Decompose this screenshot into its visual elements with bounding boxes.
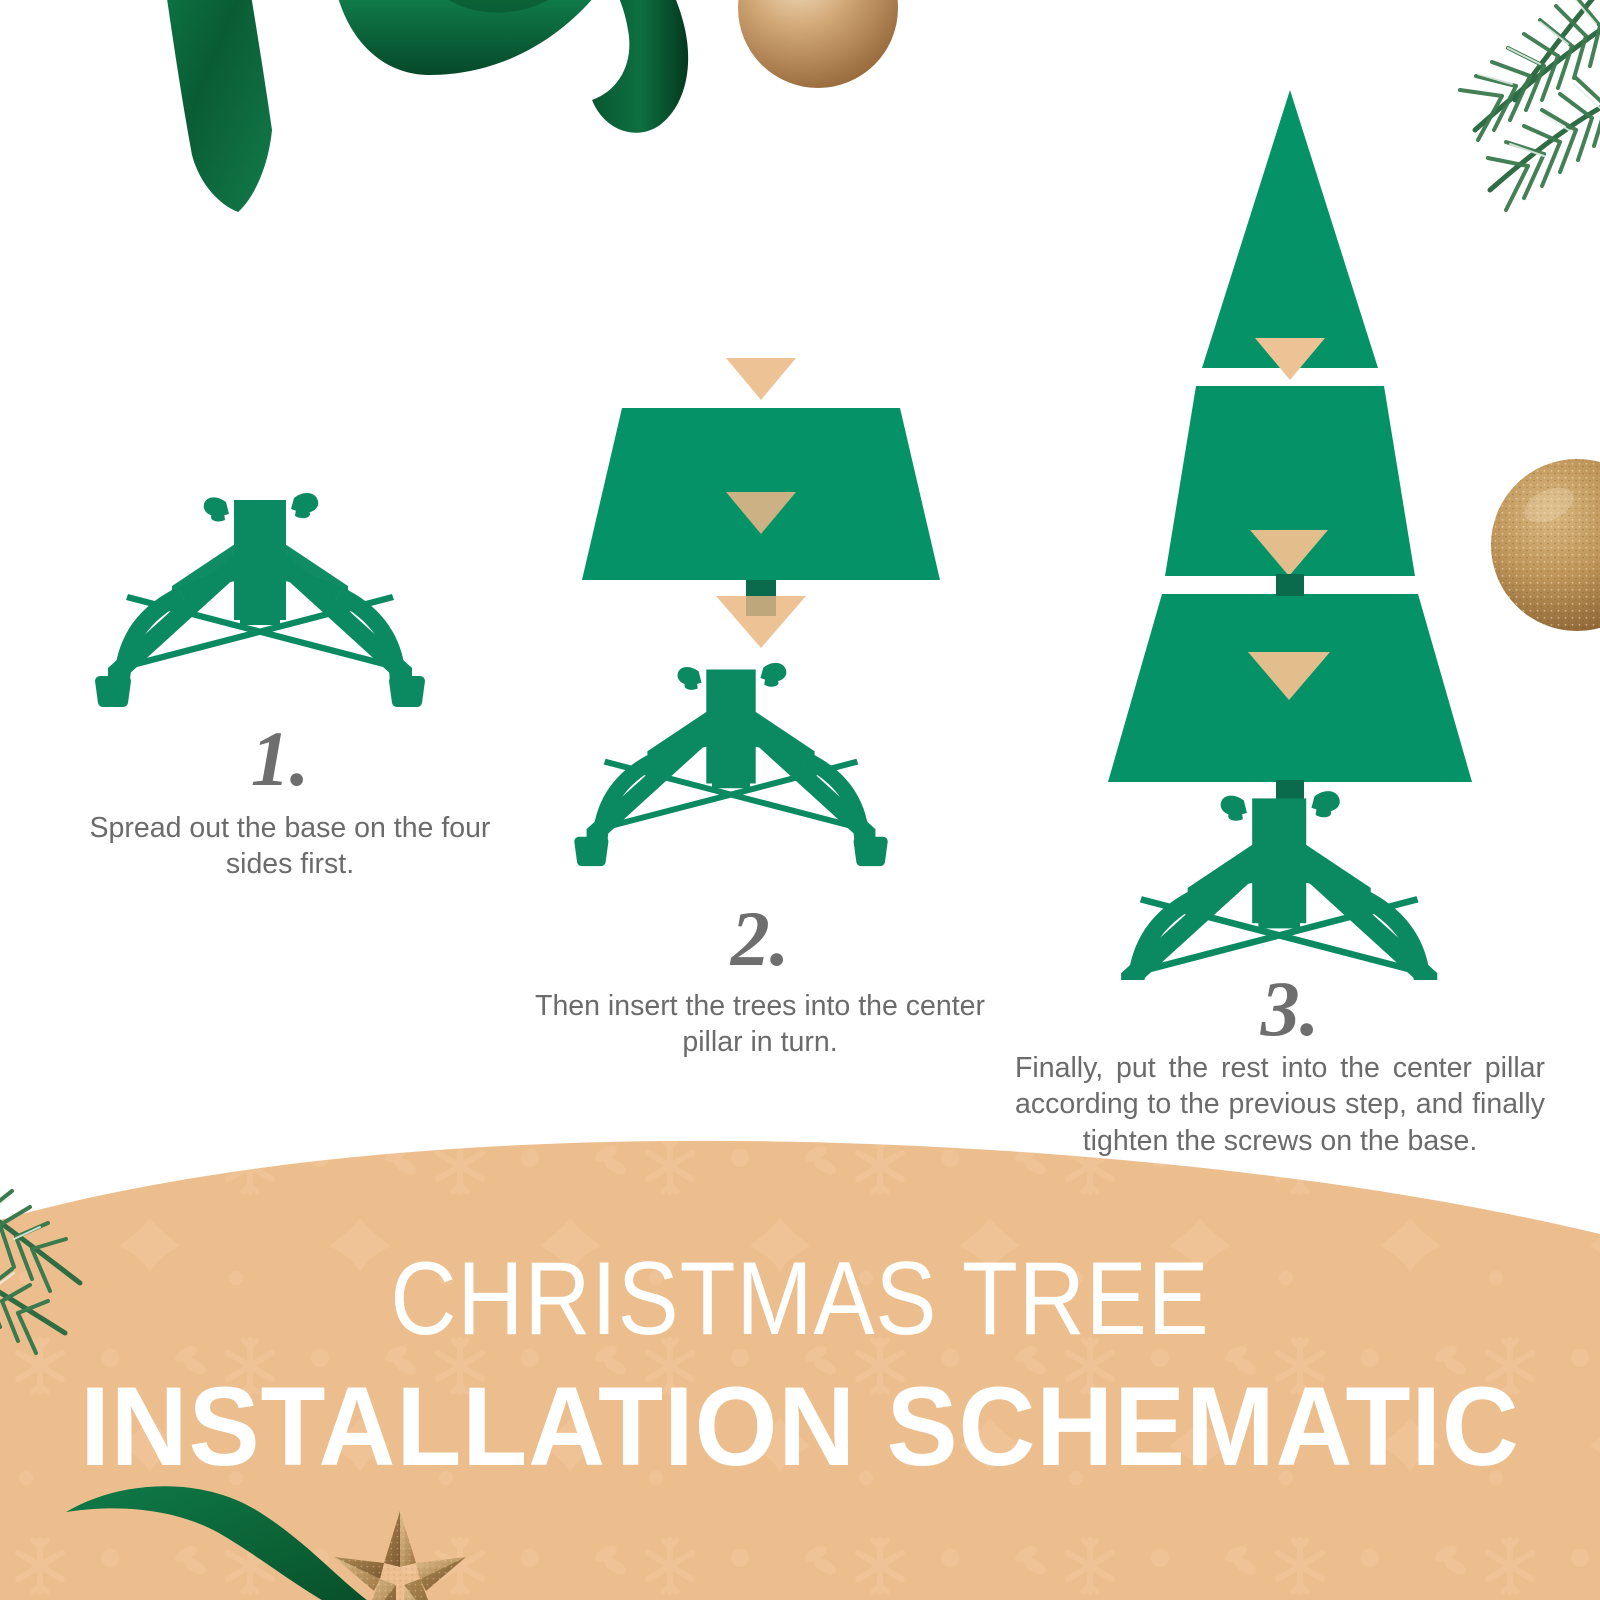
step-1: 1. Spread out the base on the four sides…	[60, 470, 520, 900]
tree-section-and-stand-illustration	[540, 330, 980, 890]
tree-pillar-stub-upper	[1276, 574, 1304, 596]
tree-stand-base-illustration	[80, 490, 480, 710]
title-line-2: INSTALLATION SCHEMATIC	[40, 1362, 1560, 1491]
step-3-number: 3.	[1020, 970, 1560, 1048]
step-2-caption: Then insert the trees into the center pi…	[530, 988, 990, 1061]
step-2: 2. Then insert the trees into the center…	[520, 330, 1000, 1070]
insert-arrow-top	[726, 358, 796, 400]
green-ribbon-top-decoration	[0, 0, 820, 280]
step-2-number: 2.	[540, 900, 980, 978]
title-line-1: CHRISTMAS TREE	[96, 1240, 1504, 1359]
full-tree-on-stand-illustration	[1020, 70, 1560, 980]
step-3: 3. Finally, put the rest into the center…	[1010, 70, 1570, 1140]
step-1-number: 1.	[80, 720, 480, 798]
gold-ornament-ball-top	[732, 0, 904, 94]
infographic-page: 1. Spread out the base on the four sides…	[0, 0, 1600, 1600]
step-1-caption: Spread out the base on the four sides fi…	[60, 810, 520, 883]
